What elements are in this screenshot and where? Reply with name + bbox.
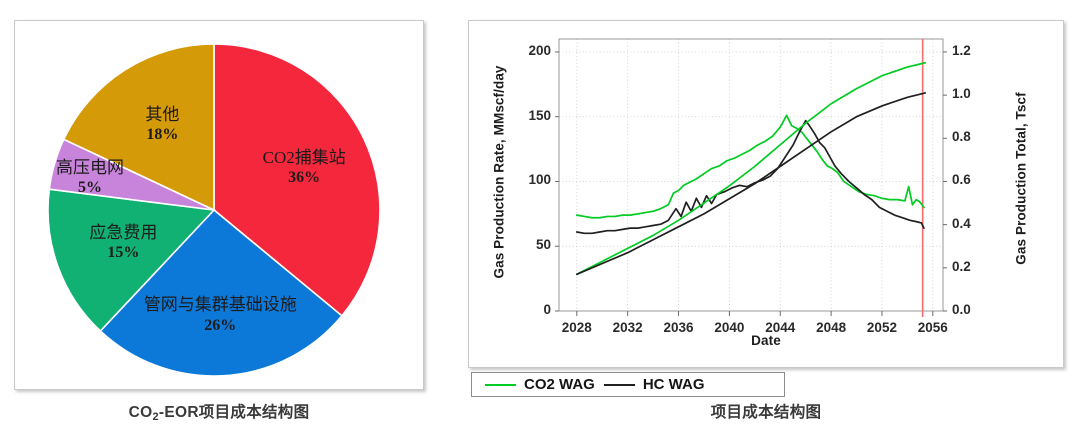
y-axis-right-title: Gas Production Total, Tscf: [1014, 79, 1029, 279]
series-line-0: [577, 115, 924, 217]
pie-svg: [15, 21, 423, 389]
legend-label-0: CO2 WAG: [524, 376, 595, 393]
pie-chart-card: CO2捕集站36%管网与集群基础设施26%应急费用15%高压电网5%其他18%: [14, 20, 424, 390]
x-axis-tick-5: 2048: [806, 320, 856, 335]
plot-frame: [559, 39, 943, 311]
line-chart: Gas Production Rate, MMscf/day Gas Produ…: [469, 21, 1063, 367]
y-axis-right-tick-2: 0.4: [952, 216, 996, 231]
y-axis-left-tick-0: 0: [507, 302, 551, 317]
legend-line-icon-0: [485, 384, 516, 386]
y-axis-right-tick-0: 0.0: [952, 302, 996, 317]
left-caption-subscript: 2: [152, 411, 158, 423]
y-axis-left-tick-2: 100: [507, 172, 551, 187]
y-axis-left-tick-3: 150: [507, 108, 551, 123]
legend-line-icon-1: [604, 384, 635, 386]
y-axis-right-tick-6: 1.2: [952, 43, 996, 58]
y-axis-right-tick-3: 0.6: [952, 172, 996, 187]
left-caption-prefix: CO: [129, 404, 153, 421]
x-axis-tick-0: 2028: [552, 320, 602, 335]
line-chart-card: Gas Production Rate, MMscf/day Gas Produ…: [468, 20, 1064, 368]
x-axis-title: Date: [469, 333, 1063, 348]
legend-label-1: HC WAG: [643, 376, 705, 393]
x-axis-tick-4: 2044: [755, 320, 805, 335]
right-caption: 项目成本结构图: [468, 400, 1064, 422]
figure-stage: CO2捕集站36%管网与集群基础设施26%应急费用15%高压电网5%其他18% …: [0, 0, 1080, 441]
chart-legend: CO2 WAG HC WAG: [471, 372, 785, 397]
series-line-2: [577, 63, 925, 275]
x-axis-tick-2: 2036: [654, 320, 704, 335]
y-axis-left-tick-4: 200: [507, 43, 551, 58]
x-axis-tick-6: 2052: [857, 320, 907, 335]
left-caption-suffix: -EOR项目成本结构图: [159, 404, 310, 421]
legend-item-0: CO2 WAG: [485, 376, 595, 393]
legend-item-1: HC WAG: [604, 376, 705, 393]
y-axis-right-tick-1: 0.2: [952, 259, 996, 274]
y-axis-right-tick-4: 0.8: [952, 129, 996, 144]
series-line-1: [577, 121, 924, 234]
x-axis-tick-7: 2056: [908, 320, 958, 335]
x-axis-tick-1: 2032: [603, 320, 653, 335]
y-axis-left-tick-1: 50: [507, 237, 551, 252]
left-caption: CO2-EOR项目成本结构图: [14, 400, 424, 422]
y-axis-left-title: Gas Production Rate, MMscf/day: [492, 79, 507, 279]
y-axis-right-tick-5: 1.0: [952, 86, 996, 101]
x-axis-tick-3: 2040: [704, 320, 754, 335]
pie-chart: CO2捕集站36%管网与集群基础设施26%应急费用15%高压电网5%其他18%: [15, 21, 423, 389]
